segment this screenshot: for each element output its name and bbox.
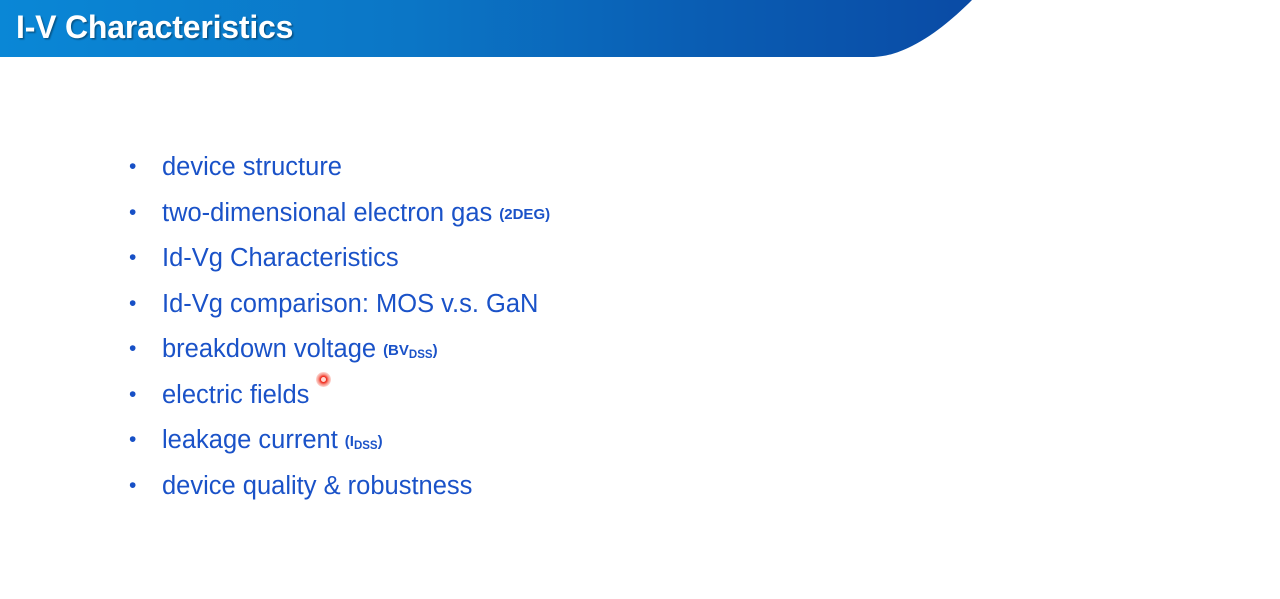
bullet-label: device structure <box>162 152 342 182</box>
bullet-label: Id-Vg comparison: MOS v.s. GaN <box>162 289 538 319</box>
bullet-label: Id-Vg Characteristics <box>162 243 399 273</box>
bullet-annotation-main: (BV <box>383 342 409 359</box>
bullet-annotation-subscript: DSS <box>409 349 433 361</box>
bullet-annotation: (IDSS) <box>345 427 383 458</box>
bullet-item-device-structure: • device structure <box>126 152 1126 198</box>
bullet-annotation-main: (I <box>345 433 354 450</box>
bullet-label: device quality & robustness <box>162 471 472 501</box>
page-title: I-V Characteristics <box>16 9 293 46</box>
slide-header-band: I-V Characteristics <box>0 0 985 58</box>
bullet-marker-icon: • <box>126 243 162 273</box>
bullet-annotation-subscript: DSS <box>354 440 378 452</box>
bullet-marker-icon: • <box>126 289 162 319</box>
bullet-marker-icon: • <box>126 425 162 455</box>
bullet-marker-icon: • <box>126 198 162 228</box>
bullet-marker-icon: • <box>126 334 162 364</box>
bullet-label: electric fields <box>162 380 309 410</box>
bullet-item-two-dimensional-electron-gas: • two-dimensional electron gas (2DEG) <box>126 198 1126 244</box>
bullet-label: breakdown voltage <box>162 334 376 364</box>
bullet-label: leakage current <box>162 425 338 455</box>
bullet-annotation-main: (2DEG) <box>499 206 550 223</box>
bullet-marker-icon: • <box>126 152 162 182</box>
bullet-item-id-vg-comparison: • Id-Vg comparison: MOS v.s. GaN <box>126 289 1126 335</box>
slide-canvas: I-V Characteristics • device structure •… <box>0 0 1280 599</box>
bullet-marker-icon: • <box>126 380 162 410</box>
bullet-label: two-dimensional electron gas <box>162 198 492 228</box>
bullet-item-breakdown-voltage: • breakdown voltage (BVDSS) <box>126 334 1126 380</box>
bullet-annotation-tail: ) <box>433 342 438 359</box>
bullet-item-device-quality-robustness: • device quality & robustness <box>126 471 1126 517</box>
bullet-annotation: (BVDSS) <box>383 336 438 367</box>
bullet-item-leakage-current: • leakage current (IDSS) <box>126 425 1126 471</box>
bullet-item-electric-fields: • electric fields <box>126 380 1126 426</box>
bullet-annotation-tail: ) <box>378 433 383 450</box>
bullet-marker-icon: • <box>126 471 162 501</box>
bullet-annotation: (2DEG) <box>499 200 550 231</box>
bullet-list: • device structure • two-dimensional ele… <box>126 152 1126 516</box>
bullet-item-id-vg-characteristics: • Id-Vg Characteristics <box>126 243 1126 289</box>
